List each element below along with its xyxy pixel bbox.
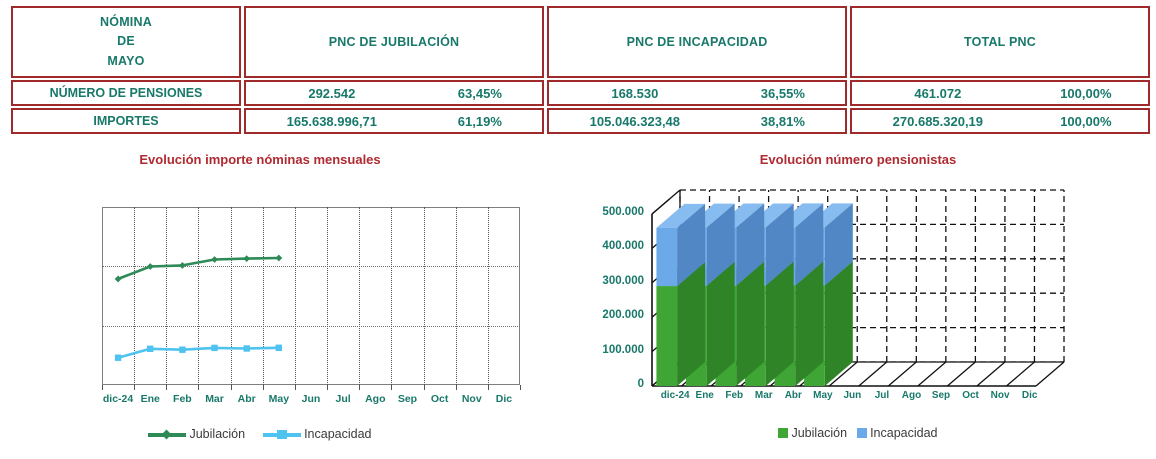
- cell-value: 165.638.996,71: [246, 114, 418, 129]
- cell-value: 292.542: [246, 86, 418, 101]
- legend-label: Incapacidad: [304, 427, 371, 441]
- table-header-row: NÓMINA DE MAYO PNC DE JUBILACIÓN PNC DE …: [11, 6, 1150, 78]
- x-axis-tick: [391, 385, 392, 390]
- line-series-layer: [102, 207, 520, 385]
- series-marker: [147, 346, 153, 352]
- bar-group-dic-24: [656, 204, 705, 386]
- cell-percent: 63,45%: [418, 86, 542, 101]
- table-row: IMPORTES 165.638.996,71 61,19% 105.046.3…: [11, 108, 1150, 134]
- cell-percent: 38,81%: [721, 114, 845, 129]
- chart-evolucion-pensionistas: Evolución número pensionistas 500.000400…: [560, 148, 1156, 459]
- legend-item[interactable]: Jubilación: [148, 427, 245, 441]
- x-axis-tick: [456, 385, 457, 390]
- y-axis-tick-label: 500.000: [558, 206, 644, 218]
- x-axis-tick: [102, 385, 103, 390]
- legend-marker-icon: [263, 429, 301, 440]
- table-row: NÚMERO DE PENSIONES 292.542 63,45% 168.5…: [11, 80, 1150, 106]
- y-axis-tick: [652, 199, 669, 214]
- legend-label: Jubilación: [791, 426, 847, 440]
- legend-item[interactable]: Incapacidad: [857, 426, 937, 440]
- cell-importes-total: 270.685.320,19 100,00%: [850, 108, 1150, 134]
- legend-marker-icon: [148, 429, 186, 440]
- cell-numero-jubilacion: 292.542 63,45%: [244, 80, 544, 106]
- line-plot-area: 200.000.000,00160.000.000,00120.000.000,…: [102, 207, 520, 385]
- legend-label: Jubilación: [189, 427, 245, 441]
- series-marker: [211, 345, 217, 351]
- table-corner-header: NÓMINA DE MAYO: [11, 6, 241, 78]
- legend-item[interactable]: Incapacidad: [263, 427, 371, 441]
- x-axis-tick: [166, 385, 167, 390]
- x-axis-tick: [295, 385, 296, 390]
- cell-percent: 36,55%: [721, 86, 845, 101]
- cell-value: 168.530: [549, 86, 721, 101]
- x-axis-tick: [327, 385, 328, 390]
- x-axis-tick: [359, 385, 360, 390]
- column-header-jubilacion: PNC DE JUBILACIÓN: [244, 6, 544, 78]
- pnc-summary-table-wrapper: NÓMINA DE MAYO PNC DE JUBILACIÓN PNC DE …: [8, 4, 1148, 136]
- series-marker: [275, 255, 282, 262]
- y-axis-tick-label: 0: [558, 378, 644, 390]
- series-marker: [115, 355, 121, 361]
- nomina-line-1: NÓMINA: [13, 13, 239, 32]
- series-marker: [179, 262, 186, 269]
- nomina-line-2: DE: [13, 32, 239, 51]
- row-label-numero-pensiones: NÚMERO DE PENSIONES: [11, 80, 241, 106]
- x-axis-tick: [263, 385, 264, 390]
- legend-swatch-icon: [778, 428, 788, 438]
- series-marker: [179, 347, 185, 353]
- cell-value: 105.046.323,48: [549, 114, 721, 129]
- y-axis-tick-label: 200.000: [558, 309, 644, 321]
- legend-importe: JubilaciónIncapacidad: [0, 427, 520, 441]
- cell-numero-incapacidad: 168.530 36,55%: [547, 80, 847, 106]
- series-line-incapacidad: [118, 348, 279, 358]
- legend-label: Incapacidad: [870, 426, 937, 440]
- bar3d-layer: [560, 148, 1156, 418]
- bar-incapacidad-front: [656, 228, 677, 286]
- pnc-summary-table: NÓMINA DE MAYO PNC DE JUBILACIÓN PNC DE …: [8, 4, 1153, 136]
- x-axis-tick-label: Dic: [481, 393, 527, 405]
- cell-importes-jubilacion: 165.638.996,71 61,19%: [244, 108, 544, 134]
- x-axis-tick: [198, 385, 199, 390]
- cell-percent: 100,00%: [1024, 114, 1148, 129]
- cell-value: 270.685.320,19: [852, 114, 1024, 129]
- series-marker: [276, 345, 282, 351]
- x-axis-tick: [488, 385, 489, 390]
- nomina-line-3: MAYO: [13, 52, 239, 71]
- x-axis-tick: [134, 385, 135, 390]
- row-label-importes: IMPORTES: [11, 108, 241, 134]
- legend-pensionistas: JubilaciónIncapacidad: [560, 426, 1156, 440]
- column-header-total: TOTAL PNC: [850, 6, 1150, 78]
- y-axis-tick-label: 400.000: [558, 240, 644, 252]
- x-axis-tick: [424, 385, 425, 390]
- y-axis-tick-label: 300.000: [558, 275, 644, 287]
- y-axis-tick-label: 100.000: [558, 344, 644, 356]
- x-axis-tick-label: Dic: [1008, 390, 1052, 401]
- series-marker: [147, 263, 154, 270]
- cell-percent: 100,00%: [1024, 86, 1148, 101]
- column-header-incapacidad: PNC DE INCAPACIDAD: [547, 6, 847, 78]
- cell-importes-incapacidad: 105.046.323,48 38,81%: [547, 108, 847, 134]
- chart-evolucion-importe: Evolución importe nóminas mensuales 200.…: [0, 148, 556, 459]
- legend-swatch-icon: [857, 428, 867, 438]
- series-marker: [244, 345, 250, 351]
- x-axis-tick: [231, 385, 232, 390]
- series-marker: [211, 256, 218, 263]
- series-line-jubilación: [118, 258, 279, 279]
- series-marker: [115, 276, 122, 283]
- legend-item[interactable]: Jubilación: [778, 426, 847, 440]
- cell-numero-total: 461.072 100,00%: [850, 80, 1150, 106]
- bars: [656, 203, 852, 386]
- cell-value: 461.072: [852, 86, 1024, 101]
- series-marker: [243, 255, 250, 262]
- chart-title-importe: Evolución importe nóminas mensuales: [0, 152, 520, 167]
- bar3d-plot-area: 500.000400.000300.000200.000100.0000dic-…: [560, 148, 1156, 418]
- cell-percent: 61,19%: [418, 114, 542, 129]
- x-axis-tick: [520, 385, 521, 390]
- bar-jubilacion-front: [656, 286, 677, 386]
